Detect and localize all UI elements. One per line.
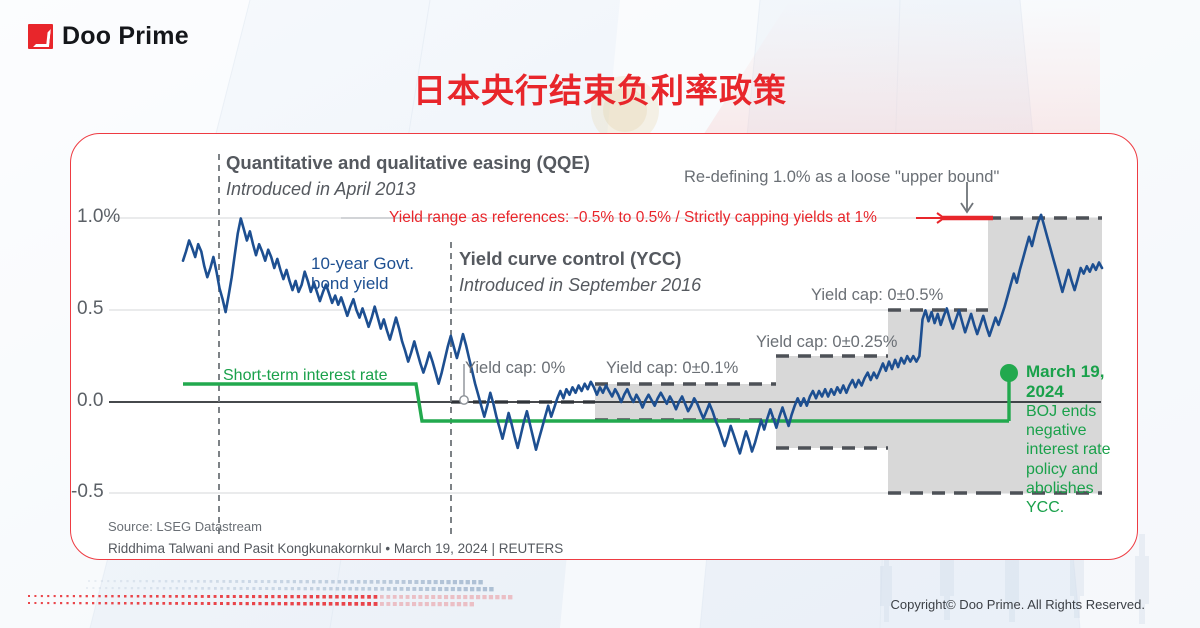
chart-plot-area: 1.0% 0.5 0.0 -0.5 Quantitative and quali… (71, 134, 1139, 561)
yield-series-label: 10-year Govt. bond yield (311, 254, 414, 294)
red-note-arrow (916, 213, 944, 223)
cap-01-label: Yield cap: 0±0.1% (606, 359, 738, 378)
policy-rate-label: Short-term interest rate (223, 367, 388, 385)
brand-name: Doo Prime (62, 22, 189, 51)
boj-marker-callout: March 19, 2024 BOJ ends negative interes… (1026, 362, 1132, 517)
chart-card: 1.0% 0.5 0.0 -0.5 Quantitative and quali… (70, 133, 1138, 560)
marker-date-line1: March 19, (1026, 362, 1132, 382)
yield-range-note: Yield range as references: -0.5% to 0.5%… (389, 209, 877, 227)
marker-dot (1000, 364, 1018, 382)
ycc-subtitle: Introduced in September 2016 (459, 275, 701, 296)
qqe-title: Quantitative and qualitative easing (QQE… (226, 152, 590, 174)
doo-prime-flag-icon (28, 24, 53, 49)
brand-logo: Doo Prime (28, 22, 189, 51)
dot-pattern-decoration (28, 576, 568, 610)
upper-bound-note: Re-defining 1.0% as a loose "upper bound… (684, 168, 999, 187)
qqe-subtitle: Introduced in April 2013 (226, 179, 415, 200)
ytick--0.5: -0.5 (71, 481, 141, 503)
marker-date: March 19, 2024 (1026, 362, 1132, 402)
marker-date-line2: 2024 (1026, 382, 1132, 402)
cap-0-label: Yield cap: 0% (465, 359, 565, 378)
ytick-1.0: 1.0% (77, 206, 147, 228)
ytick-0.5: 0.5 (77, 298, 147, 320)
chart-credit: Riddhima Talwani and Pasit Kongkunakornk… (108, 541, 563, 556)
cap-025-label: Yield cap: 0±0.25% (756, 333, 897, 352)
ycc-title: Yield curve control (YCC) (459, 248, 681, 270)
page-title: 日本央行结束负利率政策 (0, 64, 1200, 112)
cap-05-label: Yield cap: 0±0.5% (811, 286, 943, 305)
marker-description: BOJ ends negative interest rate policy a… (1026, 402, 1132, 517)
yield-series-label-line2: bond yield (311, 274, 414, 294)
ytick-0.0: 0.0 (77, 390, 147, 412)
chart-source: Source: LSEG Datastream (108, 519, 262, 534)
copyright-text: Copyright© Doo Prime. All Rights Reserve… (890, 597, 1145, 612)
yield-series-label-line1: 10-year Govt. (311, 254, 414, 274)
